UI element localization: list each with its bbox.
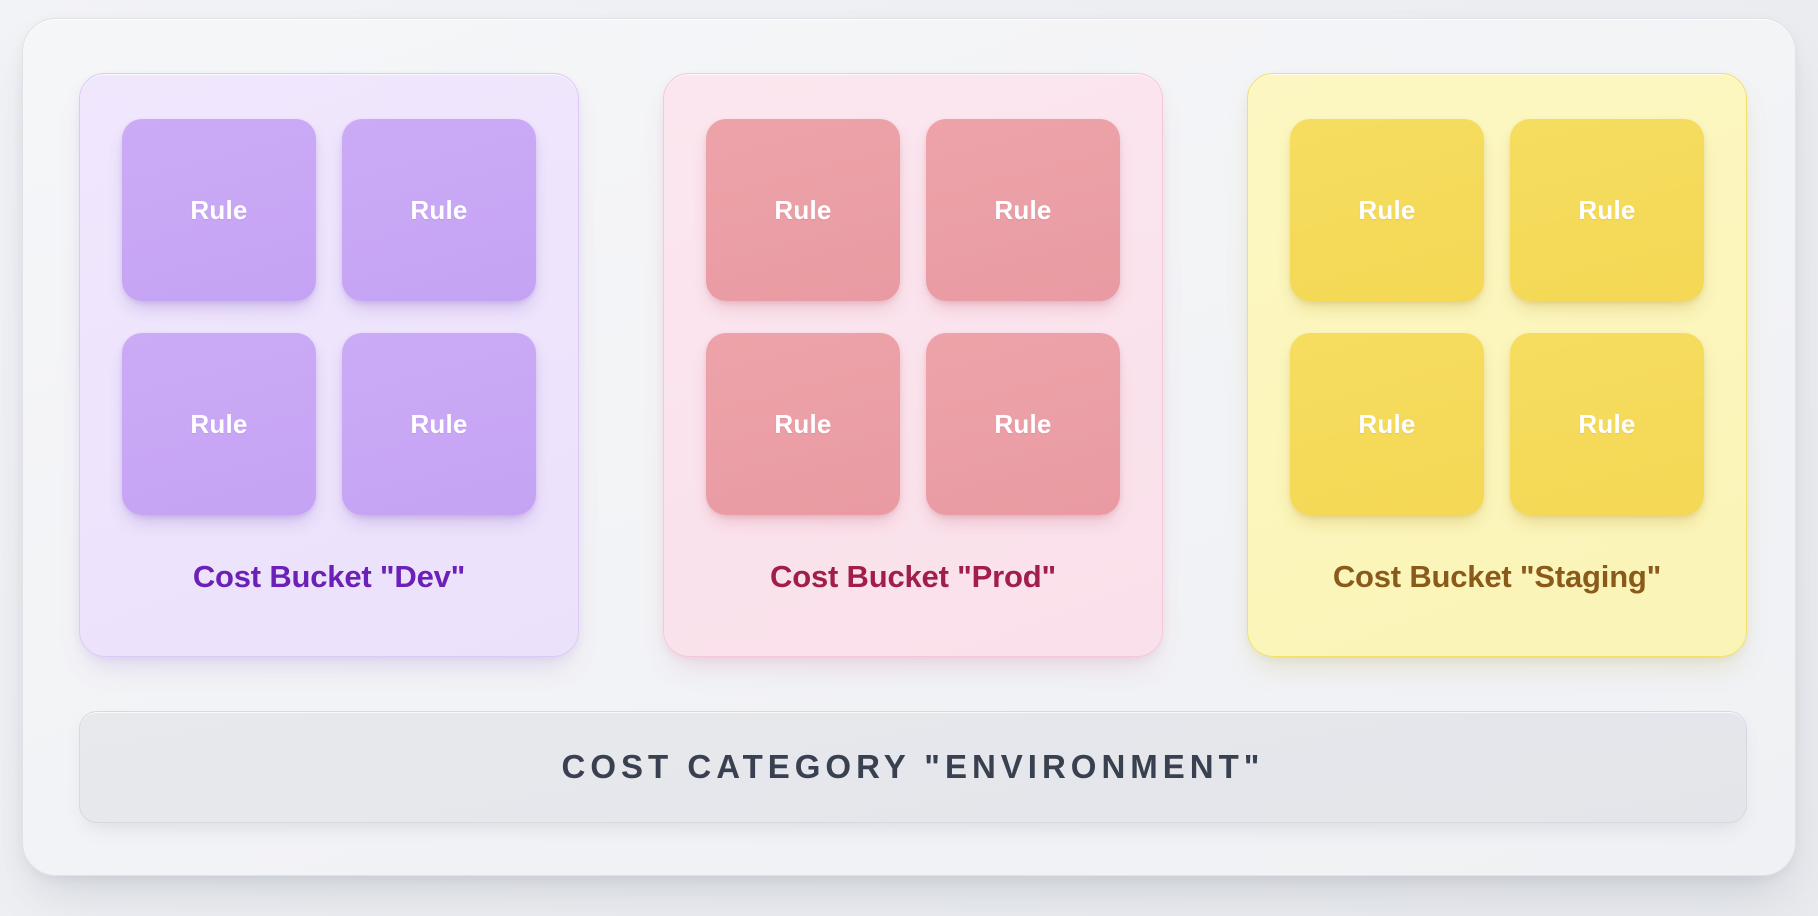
cost-bucket-prod[interactable]: Rule Rule Rule Rule Cost Bucket "Prod" — [663, 73, 1163, 657]
rule-tile[interactable]: Rule — [926, 119, 1120, 301]
rule-grid-dev: Rule Rule Rule Rule — [122, 119, 536, 515]
cost-bucket-dev[interactable]: Rule Rule Rule Rule Cost Bucket "Dev" — [79, 73, 579, 657]
rule-tile[interactable]: Rule — [342, 119, 536, 301]
cost-category-panel: Rule Rule Rule Rule Cost Bucket "Dev" Ru… — [22, 18, 1796, 876]
cost-bucket-row: Rule Rule Rule Rule Cost Bucket "Dev" Ru… — [79, 73, 1747, 659]
rule-tile[interactable]: Rule — [122, 333, 316, 515]
rule-tile[interactable]: Rule — [1290, 119, 1484, 301]
rule-grid-prod: Rule Rule Rule Rule — [706, 119, 1120, 515]
cost-bucket-staging[interactable]: Rule Rule Rule Rule Cost Bucket "Staging… — [1247, 73, 1747, 657]
rule-tile[interactable]: Rule — [342, 333, 536, 515]
rule-tile[interactable]: Rule — [926, 333, 1120, 515]
rule-tile[interactable]: Rule — [1510, 119, 1704, 301]
diagram-canvas: Rule Rule Rule Rule Cost Bucket "Dev" Ru… — [0, 0, 1818, 916]
rule-grid-staging: Rule Rule Rule Rule — [1290, 119, 1704, 515]
cost-category-bar: COST CATEGORY "ENVIRONMENT" — [79, 711, 1747, 823]
cost-bucket-caption: Cost Bucket "Dev" — [193, 559, 465, 595]
rule-tile[interactable]: Rule — [1290, 333, 1484, 515]
cost-category-label: COST CATEGORY "ENVIRONMENT" — [562, 748, 1265, 786]
cost-bucket-caption: Cost Bucket "Staging" — [1333, 559, 1661, 595]
rule-tile[interactable]: Rule — [1510, 333, 1704, 515]
rule-tile[interactable]: Rule — [706, 119, 900, 301]
cost-bucket-caption: Cost Bucket "Prod" — [770, 559, 1056, 595]
rule-tile[interactable]: Rule — [706, 333, 900, 515]
rule-tile[interactable]: Rule — [122, 119, 316, 301]
